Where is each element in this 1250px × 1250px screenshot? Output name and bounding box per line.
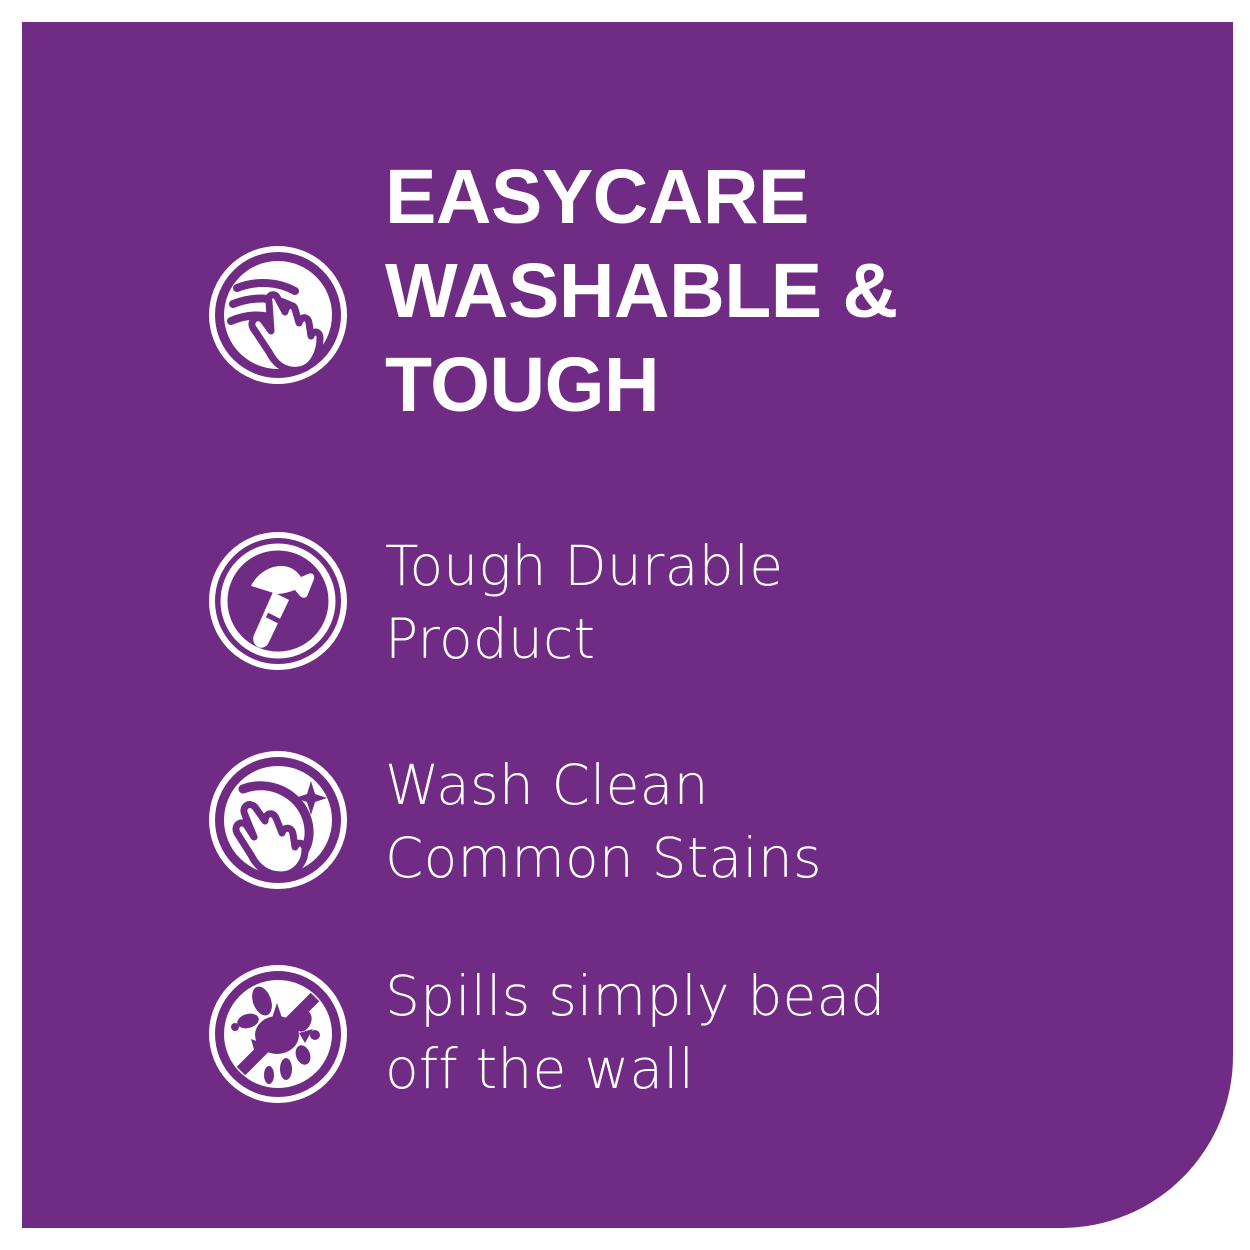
feature-line-2: Common Stains [385,822,822,895]
feature-line-2: Product [385,603,783,676]
hand-wipe-icon [207,244,349,386]
heading-line-1: EASYCARE [385,150,1185,244]
purple-feature-panel: EASYCARE WASHABLE & TOUGH Tough Durable … [22,22,1233,1228]
feature-line-1: Spills simply bead [385,960,886,1033]
hammer-icon [207,530,349,672]
feature-label-spills: Spills simply bead off the wall [385,960,886,1106]
feature-label-stains: Wash Clean Common Stains [385,749,822,895]
feature-line-1: Wash Clean [385,749,822,822]
feature-line-2: off the wall [385,1033,886,1106]
hand-sparkle-icon [207,749,349,891]
heading-line-3: TOUGH [385,338,1185,432]
no-splash-icon [207,963,349,1105]
feature-label-durable: Tough Durable Product [385,530,783,676]
feature-line-1: Tough Durable [385,530,783,603]
heading-line-2: WASHABLE & [385,244,1185,338]
page-title: EASYCARE WASHABLE & TOUGH [385,150,1185,432]
